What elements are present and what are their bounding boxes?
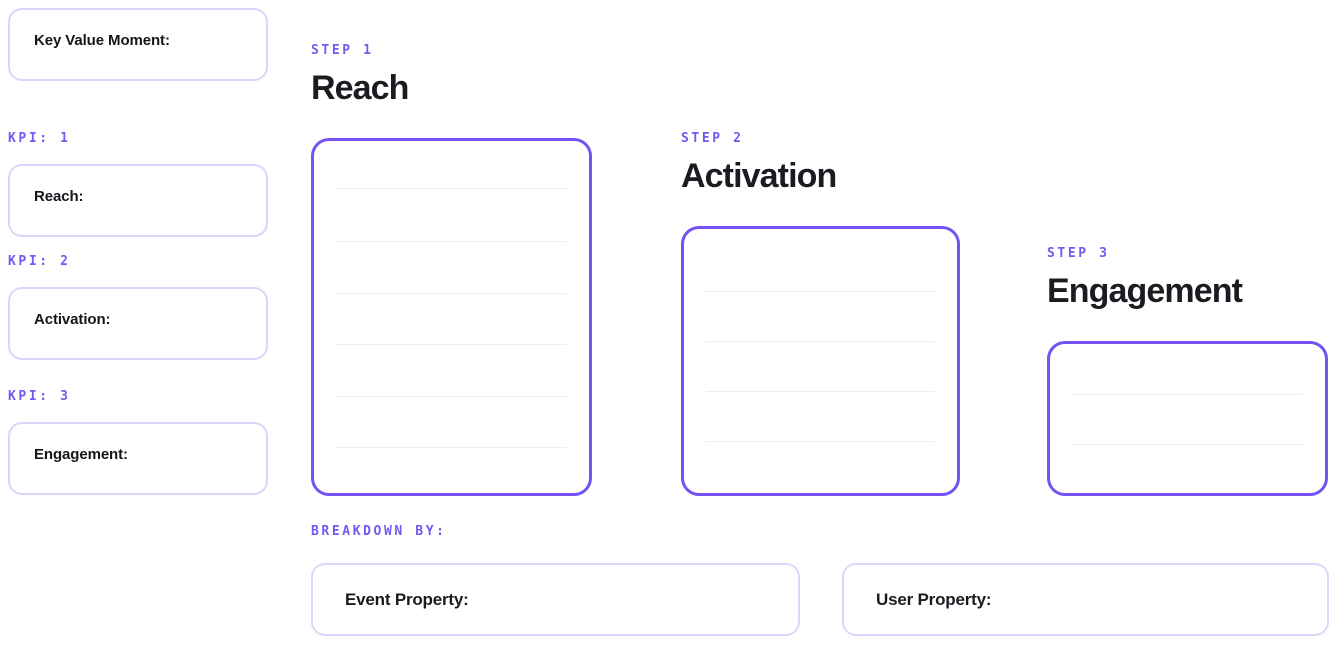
step-3-eyebrow: STEP 3 bbox=[1047, 246, 1110, 261]
step-1-title: Reach bbox=[311, 71, 409, 105]
step-2-title: Activation bbox=[681, 159, 836, 193]
event-property-card[interactable]: Event Property: bbox=[311, 563, 800, 636]
user-property-card[interactable]: User Property: bbox=[842, 563, 1329, 636]
kpi-3-label: Engagement: bbox=[34, 446, 128, 463]
step-2-rule-lines bbox=[706, 229, 935, 493]
step-1-card[interactable] bbox=[311, 138, 592, 496]
kpi-2-card[interactable]: Activation: bbox=[8, 287, 268, 360]
breakdown-eyebrow: BREAKDOWN BY: bbox=[311, 524, 447, 539]
kpi-2-label: Activation: bbox=[34, 311, 110, 328]
step-2-eyebrow: STEP 2 bbox=[681, 131, 744, 146]
kpi-1-card[interactable]: Reach: bbox=[8, 164, 268, 237]
kpi-1-eyebrow: KPI: 1 bbox=[8, 131, 71, 146]
step-3-title: Engagement bbox=[1047, 274, 1242, 308]
step-3-rule-lines bbox=[1072, 344, 1303, 493]
kpi-3-eyebrow: KPI: 3 bbox=[8, 389, 71, 404]
kpi-2-eyebrow: KPI: 2 bbox=[8, 254, 71, 269]
step-1-rule-lines bbox=[336, 141, 567, 493]
key-value-moment-label: Key Value Moment: bbox=[34, 32, 170, 49]
key-value-moment-card[interactable]: Key Value Moment: bbox=[8, 8, 268, 81]
event-property-label: Event Property: bbox=[345, 590, 469, 610]
user-property-label: User Property: bbox=[876, 590, 991, 610]
step-3-card[interactable] bbox=[1047, 341, 1328, 496]
kpi-3-card[interactable]: Engagement: bbox=[8, 422, 268, 495]
sidebar: Key Value Moment: KPI: 1 Reach: KPI: 2 A… bbox=[0, 0, 300, 646]
kpi-1-label: Reach: bbox=[34, 188, 83, 205]
step-1-eyebrow: STEP 1 bbox=[311, 43, 374, 58]
step-2-card[interactable] bbox=[681, 226, 960, 496]
